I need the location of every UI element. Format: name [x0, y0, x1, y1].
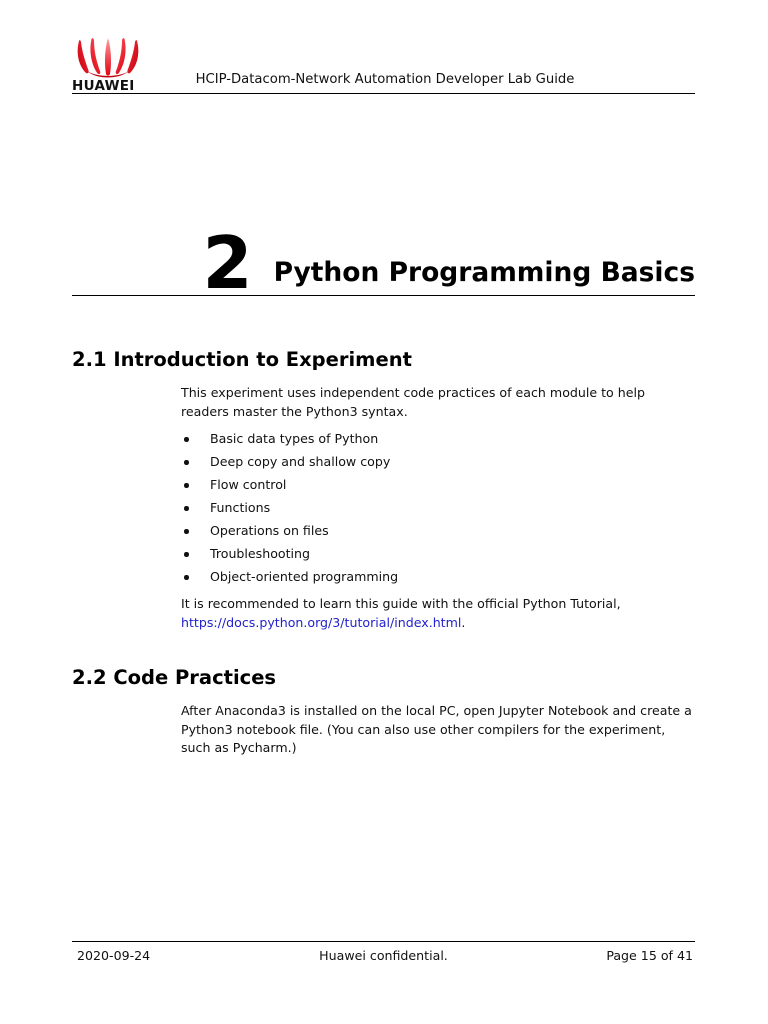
footer-divider: [72, 941, 695, 942]
section-2-1-intro: This experiment uses independent code pr…: [181, 384, 693, 421]
section-heading-2-1: 2.1 Introduction to Experiment: [72, 348, 412, 372]
list-item-label: Troubleshooting: [210, 546, 310, 561]
section-heading-2-2: 2.2 Code Practices: [72, 666, 276, 690]
experiment-topics-list: Basic data types of Python Deep copy and…: [181, 430, 693, 591]
list-item-label: Object-oriented programming: [210, 569, 398, 584]
bullet-dot-icon: [184, 575, 189, 580]
bullet-dot-icon: [184, 506, 189, 511]
bullet-dot-icon: [184, 529, 189, 534]
bullet-dot-icon: [184, 437, 189, 442]
list-item-label: Basic data types of Python: [210, 431, 378, 446]
python-tutorial-link[interactable]: https://docs.python.org/3/tutorial/index…: [181, 615, 461, 630]
list-item: Operations on files: [181, 522, 693, 545]
bullet-dot-icon: [184, 483, 189, 488]
list-item: Flow control: [181, 476, 693, 499]
header-divider: [72, 93, 695, 94]
footer-page-number: Page 15 of 41: [606, 946, 693, 966]
list-item: Basic data types of Python: [181, 430, 693, 453]
bullet-dot-icon: [184, 552, 189, 557]
list-item: Deep copy and shallow copy: [181, 453, 693, 476]
footer-confidentiality: Huawei confidential.: [72, 946, 695, 966]
page-footer: 2020-09-24 Huawei confidential. Page 15 …: [72, 946, 695, 968]
list-item: Object-oriented programming: [181, 568, 693, 591]
page-header: HUAWEI HCIP-Datacom-Network Automation D…: [0, 0, 768, 100]
bullet-dot-icon: [184, 460, 189, 465]
document-page: HUAWEI HCIP-Datacom-Network Automation D…: [0, 0, 768, 1024]
chapter-title-block: 2 Python Programming Basics: [72, 215, 695, 295]
closing-text-prefix: It is recommended to learn this guide wi…: [181, 596, 621, 611]
list-item-label: Deep copy and shallow copy: [210, 454, 390, 469]
list-item: Functions: [181, 499, 693, 522]
huawei-wordmark: HUAWEI: [72, 78, 144, 94]
huawei-logo: HUAWEI: [72, 38, 144, 96]
closing-text-suffix: .: [461, 615, 465, 630]
chapter-title-row: 2 Python Programming Basics: [72, 225, 695, 295]
section-2-1-closing: It is recommended to learn this guide wi…: [181, 595, 693, 632]
list-item-label: Flow control: [210, 477, 286, 492]
chapter-divider: [72, 295, 695, 296]
chapter-number: 2: [202, 228, 251, 298]
list-item-label: Operations on files: [210, 523, 329, 538]
section-2-2-intro: After Anaconda3 is installed on the loca…: [181, 702, 693, 758]
list-item-label: Functions: [210, 500, 270, 515]
chapter-name: Python Programming Basics: [274, 257, 695, 289]
header-title: HCIP-Datacom-Network Automation Develope…: [150, 72, 620, 88]
list-item: Troubleshooting: [181, 545, 693, 568]
huawei-flower-icon: [75, 38, 141, 78]
